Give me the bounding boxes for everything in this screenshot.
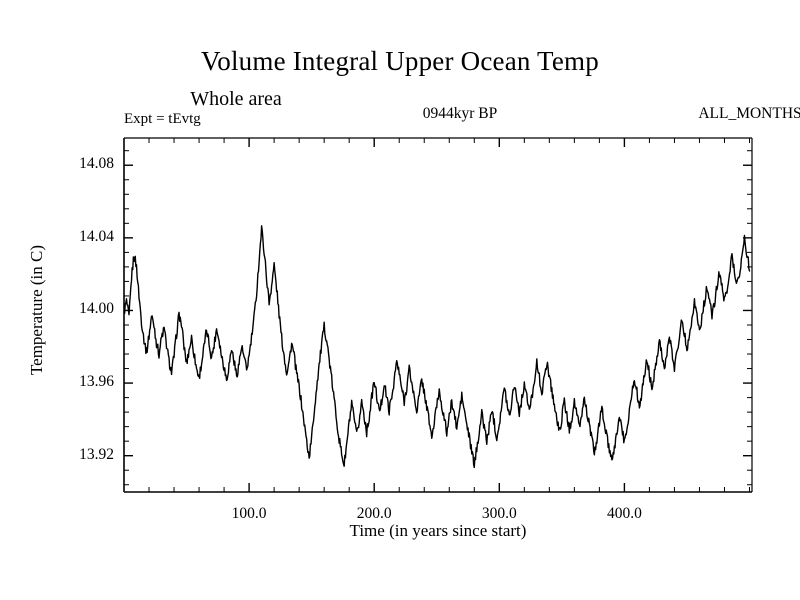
y-tick-label: 13.96: [54, 373, 114, 391]
y-tick-label: 14.08: [54, 155, 114, 173]
y-tick-label: 13.92: [54, 446, 114, 464]
tick-marks: [124, 138, 752, 492]
x-tick-label: 300.0: [459, 505, 539, 523]
x-tick-label: 200.0: [334, 505, 414, 523]
y-tick-label: 14.04: [54, 228, 114, 246]
chart-figure: Volume Integral Upper Ocean Temp Whole a…: [0, 0, 800, 600]
x-tick-label: 400.0: [584, 505, 664, 523]
axis-frame: [124, 138, 752, 492]
months-label: ALL_MONTHS: [0, 105, 800, 123]
y-tick-label: 14.00: [54, 300, 114, 318]
chart-title: Volume Integral Upper Ocean Temp: [0, 46, 800, 77]
x-axis-title: Time (in years since start): [124, 521, 752, 541]
x-tick-label: 100.0: [209, 505, 289, 523]
y-axis-title: Temperature (in C): [27, 210, 47, 410]
data-series-line: [124, 226, 750, 468]
